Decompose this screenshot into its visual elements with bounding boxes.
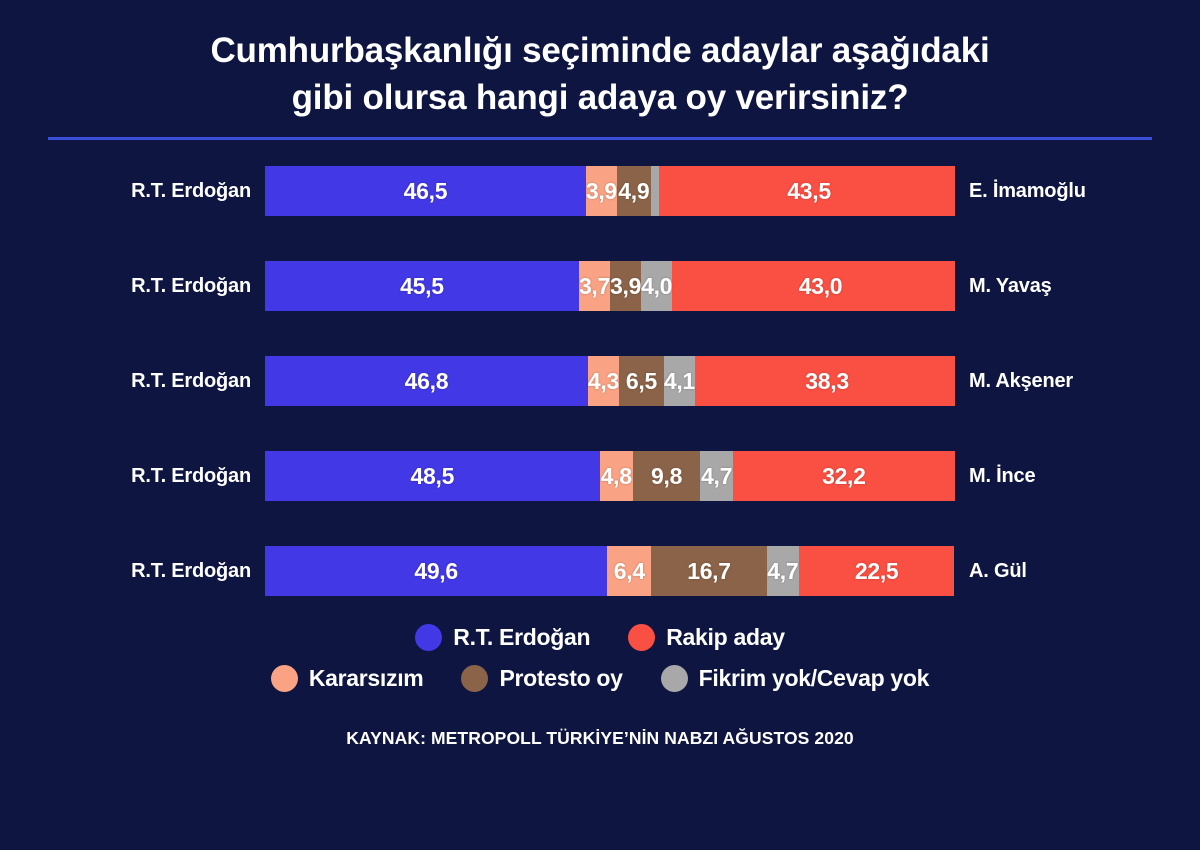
segment-value-label: 3,9 [586,178,617,205]
segment-value-label: 46,5 [404,178,448,205]
stacked-bar: 45,53,73,94,043,0 [265,261,955,311]
legend-label: Fikrim yok/Cevap yok [699,665,930,692]
segment-value-label: 38,3 [805,368,849,395]
legend-item-noidea: Fikrim yok/Cevap yok [661,665,930,692]
legend-label: Rakip aday [666,624,784,651]
bar-segment-erdogan: 46,5 [265,166,586,216]
legend-item-protest: Protesto oy [461,665,622,692]
legend-swatch-protest-icon [461,665,488,692]
legend-item-undecided: Kararsızım [271,665,424,692]
chart-row: R.T. Erdoğan49,66,416,74,722,5A. Gül [0,546,1200,596]
segment-value-label: 4,1 [664,368,695,395]
stacked-bar-chart: R.T. Erdoğan46,53,94,943,5E. İmamoğluR.T… [0,166,1200,596]
stacked-bar: 48,54,89,84,732,2 [265,451,955,501]
segment-value-label: 6,5 [626,368,657,395]
segment-value-label: 22,5 [855,558,899,585]
stacked-bar: 46,53,94,943,5 [265,166,955,216]
legend-label: Kararsızım [309,665,424,692]
bar-segment-rival: 43,5 [659,166,955,216]
bar-segment-erdogan: 48,5 [265,451,600,501]
row-right-candidate-label: E. İmamoğlu [955,180,1200,203]
row-left-candidate-label: R.T. Erdoğan [0,465,265,488]
row-left-candidate-label: R.T. Erdoğan [0,180,265,203]
legend-row-secondary: KararsızımProtesto oyFikrim yok/Cevap yo… [271,665,929,692]
segment-value-label: 6,4 [614,558,645,585]
chart-row: R.T. Erdoğan46,84,36,54,138,3M. Akşener [0,356,1200,406]
segment-value-label: 9,8 [651,463,682,490]
legend-swatch-undecided-icon [271,665,298,692]
stacked-bar: 46,84,36,54,138,3 [265,356,955,406]
legend-swatch-rival-icon [628,624,655,651]
bar-segment-undecided: 3,7 [579,261,610,311]
bar-segment-undecided: 4,8 [600,451,633,501]
page-title-line-2: gibi olursa hangi adaya oy verirsiniz? [60,75,1140,122]
segment-value-label: 32,2 [822,463,866,490]
legend-swatch-noidea-icon [661,665,688,692]
segment-value-label: 16,7 [687,558,731,585]
segment-value-label: 4,9 [618,178,649,205]
bar-segment-noidea: 4,0 [641,261,672,311]
legend-row-primary: R.T. ErdoğanRakip aday [415,624,784,651]
bar-segment-undecided: 3,9 [586,166,617,216]
bar-segment-undecided: 4,3 [588,356,619,406]
chart-legend: R.T. ErdoğanRakip aday KararsızımProtest… [0,624,1200,692]
segment-value-label: 43,5 [787,178,831,205]
segment-value-label: 46,8 [405,368,449,395]
segment-value-label: 43,0 [799,273,843,300]
bar-segment-undecided: 6,4 [607,546,651,596]
bar-segment-noidea [651,166,659,216]
source-note: KAYNAK: METROPOLL TÜRKİYE’NİN NABZI AĞUS… [0,728,1200,749]
bar-segment-protest: 3,9 [610,261,641,311]
legend-item-rival: Rakip aday [628,624,784,651]
bar-segment-rival: 43,0 [672,261,955,311]
segment-value-label: 4,7 [701,463,732,490]
row-right-candidate-label: M. İnce [955,465,1200,488]
segment-value-label: 4,0 [641,273,672,300]
row-right-candidate-label: M. Yavaş [955,275,1200,298]
stacked-bar: 49,66,416,74,722,5 [265,546,955,596]
bar-segment-protest: 6,5 [619,356,664,406]
bar-segment-protest: 16,7 [651,546,766,596]
bar-segment-erdogan: 45,5 [265,261,579,311]
title-block: Cumhurbaşkanlığı seçiminde adaylar aşağı… [0,0,1200,121]
row-right-candidate-label: A. Gül [955,560,1200,583]
bar-segment-protest: 9,8 [633,451,701,501]
legend-swatch-erdogan-icon [415,624,442,651]
bar-segment-rival: 32,2 [733,451,955,501]
row-right-candidate-label: M. Akşener [955,370,1200,393]
row-left-candidate-label: R.T. Erdoğan [0,275,265,298]
legend-label: Protesto oy [499,665,622,692]
bar-segment-protest: 4,9 [617,166,651,216]
bar-segment-noidea: 4,1 [664,356,695,406]
segment-value-label: 4,7 [767,558,798,585]
page-title-line-1: Cumhurbaşkanlığı seçiminde adaylar aşağı… [60,28,1140,75]
segment-value-label: 3,9 [610,273,641,300]
bar-segment-erdogan: 46,8 [265,356,588,406]
segment-value-label: 3,7 [579,273,610,300]
bar-segment-rival: 22,5 [799,546,954,596]
segment-value-label: 4,8 [601,463,632,490]
chart-row: R.T. Erdoğan45,53,73,94,043,0M. Yavaş [0,261,1200,311]
row-left-candidate-label: R.T. Erdoğan [0,370,265,393]
segment-value-label: 4,3 [588,368,619,395]
legend-item-erdogan: R.T. Erdoğan [415,624,590,651]
segment-value-label: 49,6 [414,558,458,585]
title-divider [48,137,1152,140]
chart-row: R.T. Erdoğan46,53,94,943,5E. İmamoğlu [0,166,1200,216]
bar-segment-noidea: 4,7 [767,546,799,596]
bar-segment-rival: 38,3 [695,356,955,406]
segment-value-label: 45,5 [400,273,444,300]
chart-row: R.T. Erdoğan48,54,89,84,732,2M. İnce [0,451,1200,501]
segment-value-label: 48,5 [411,463,455,490]
bar-segment-erdogan: 49,6 [265,546,607,596]
bar-segment-noidea: 4,7 [700,451,732,501]
legend-label: R.T. Erdoğan [453,624,590,651]
row-left-candidate-label: R.T. Erdoğan [0,560,265,583]
